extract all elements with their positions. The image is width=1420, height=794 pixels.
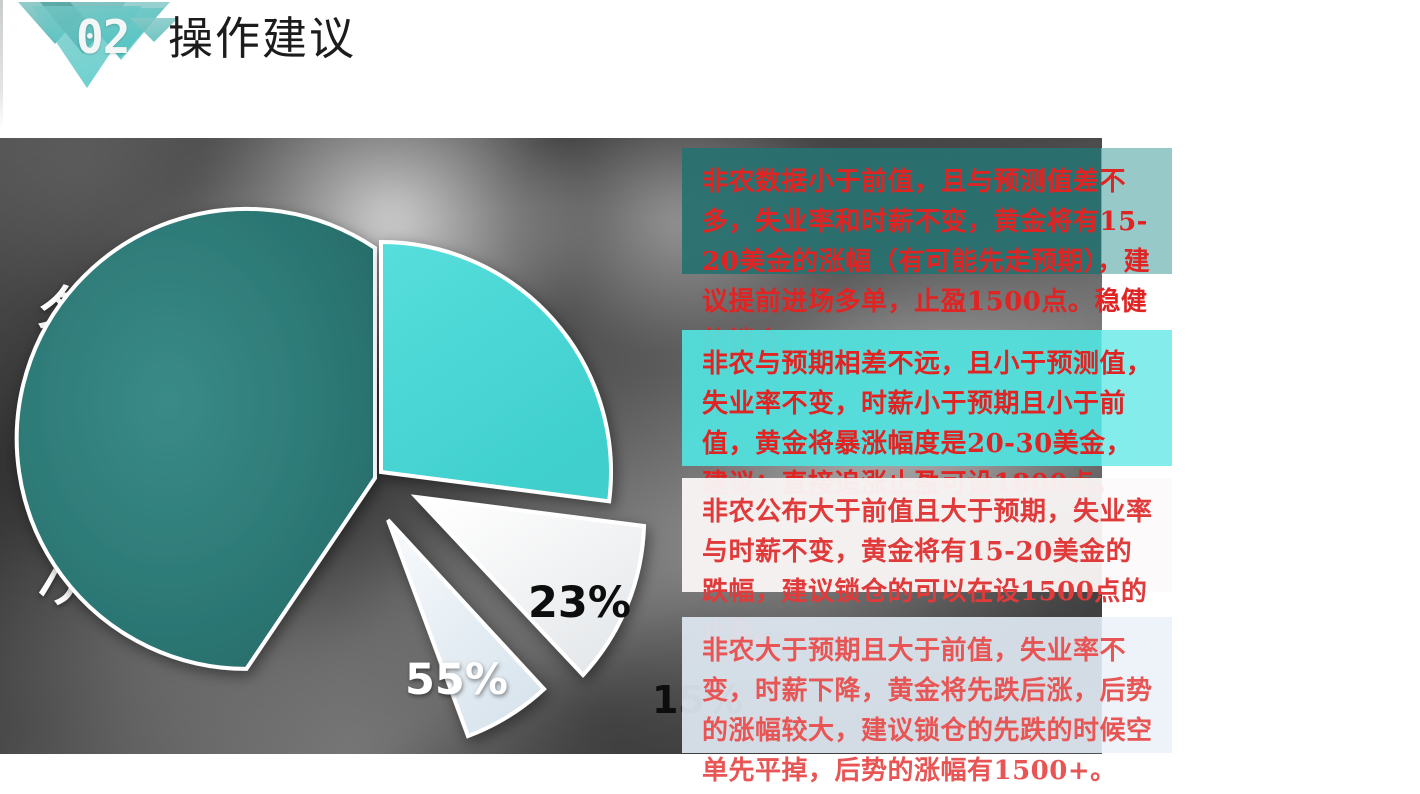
pie-slice-23: [381, 242, 611, 501]
pie-chart: 55% 23% 15% 7%: [120, 200, 700, 760]
scenario-box-3: 非农公布大于前值且大于预期，失业率与时薪不变，黄金将有15-20美金的跌幅，建议…: [682, 478, 1172, 592]
w-triangles-logo: 02: [18, 2, 178, 88]
slide-root: 02 操作建议 各种情况: [0, 0, 1420, 794]
pie-label-55: 55%: [405, 655, 508, 705]
left-edge-rule: [0, 0, 3, 130]
scenario-box-4: 非农大于预期且大于前值，失业率不变，时薪下降，黄金将先跌后涨，后势的涨幅较大，建…: [682, 617, 1172, 753]
scenario-text-4: 非农大于预期且大于前值，失业率不变，时薪下降，黄金将先跌后涨，后势的涨幅较大，建…: [702, 631, 1154, 791]
scenario-box-2: 非农与预期相差不远，且小于预测值，失业率不变，时薪小于预期且小于前值，黄金将暴涨…: [682, 330, 1172, 466]
pie-label-23: 23%: [528, 578, 631, 628]
section-number: 02: [76, 10, 129, 64]
page-title: 操作建议: [168, 8, 356, 70]
slide-header: 02 操作建议: [0, 0, 1420, 110]
scenario-box-1: 非农数据小于前值，且与预测值差不多，失业率和时薪不变，黄金将有15-20美金的涨…: [682, 148, 1172, 274]
